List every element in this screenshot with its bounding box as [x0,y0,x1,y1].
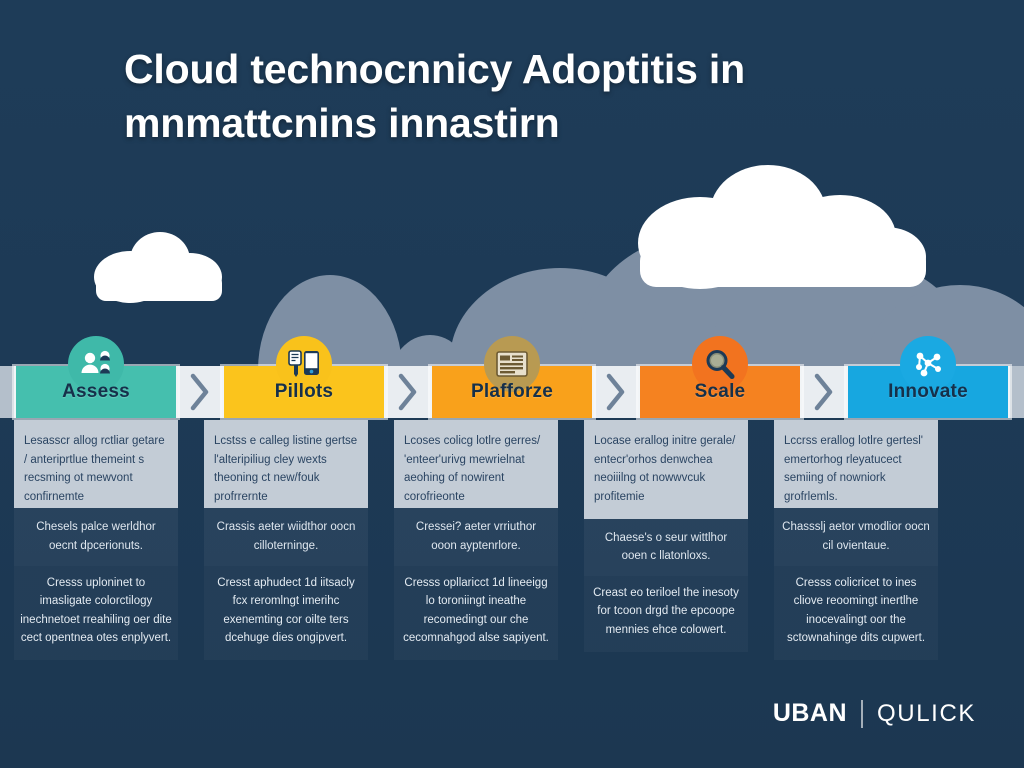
tail-paragraph: Cresss uploninet to imasligate colorctil… [14,566,178,661]
mid-paragraph: Crassis aeter wiidthor oocn cilloterning… [204,508,368,565]
step-scale[interactable]: Scale [638,366,802,418]
step-pillots[interactable]: Pillots [222,366,386,418]
white-clouds [0,165,1024,325]
description-column-assess: Lesasscr allog rctliar getare / anteripr… [14,420,178,660]
process-steps: Assess Pillots [0,366,1024,418]
lead-paragraph: Lcstss e calleg listine gertse l'alterip… [204,420,368,508]
chevron-separator-1 [178,366,222,418]
step-label: Pillots [275,381,333,403]
step-descriptions: Lesasscr allog rctliar getare / anteripr… [0,420,1024,660]
lead-paragraph: Lccrss erallog lotlre gertesl' emertorho… [774,420,938,508]
step-plafforze[interactable]: Plafforze [430,366,594,418]
chevron-separator-2 [386,366,430,418]
lead-paragraph: Locase erallog initre gerale/ entecr'orh… [584,420,748,519]
step-innovate[interactable]: Innovate [846,366,1010,418]
step-assess[interactable]: Assess [14,366,178,418]
step-label: Scale [695,381,746,403]
chevron-separator-3 [594,366,638,418]
step-label: Innovate [888,381,968,403]
tail-paragraph: Cresss opllaricct 1d lineeigg lo toronii… [394,566,558,661]
tail-paragraph: Creast eo teriloel the inesoty for tcoon… [584,576,748,652]
step-label: Plafforze [471,381,553,403]
description-column-scale: Locase erallog initre gerale/ entecr'orh… [584,420,748,660]
lead-paragraph: Lcoses colicg lotlre gerres/ 'enteer'uri… [394,420,558,508]
mid-paragraph: Chaese's o seur wittlhor ooen c llatonlo… [584,519,748,576]
brand-divider [861,700,863,728]
tail-paragraph: Cresss colicricet to ines cliove reoomin… [774,566,938,661]
infographic-canvas: Cloud technocnnicy Adoptitis in mnmattcn… [0,0,1024,768]
mid-paragraph: Cressei? aeter vrriuthor ooon ayptenrlor… [394,508,558,565]
brand-secondary: QULICK [877,700,976,728]
description-column-innovate: Lccrss erallog lotlre gertesl' emertorho… [774,420,938,660]
chevron-separator-4 [802,366,846,418]
page-title: Cloud technocnnicy Adoptitis in mnmattcn… [124,42,944,150]
tail-paragraph: Cresst aphudect 1d iitsacly fcx reromlng… [204,566,368,661]
brand-lockup: UBAN QULICK [773,699,976,728]
description-column-plafforze: Lcoses colicg lotlre gerres/ 'enteer'uri… [394,420,558,660]
lead-paragraph: Lesasscr allog rctliar getare / anteripr… [14,420,178,508]
step-label: Assess [62,381,130,403]
brand-primary: UBAN [773,699,847,728]
mid-paragraph: Chassslj aetor vmodlior oocn cil ovienta… [774,508,938,565]
mid-paragraph: Chesels palce werldhor oecnt dpcerionuts… [14,508,178,565]
description-column-pillots: Lcstss e calleg listine gertse l'alterip… [204,420,368,660]
